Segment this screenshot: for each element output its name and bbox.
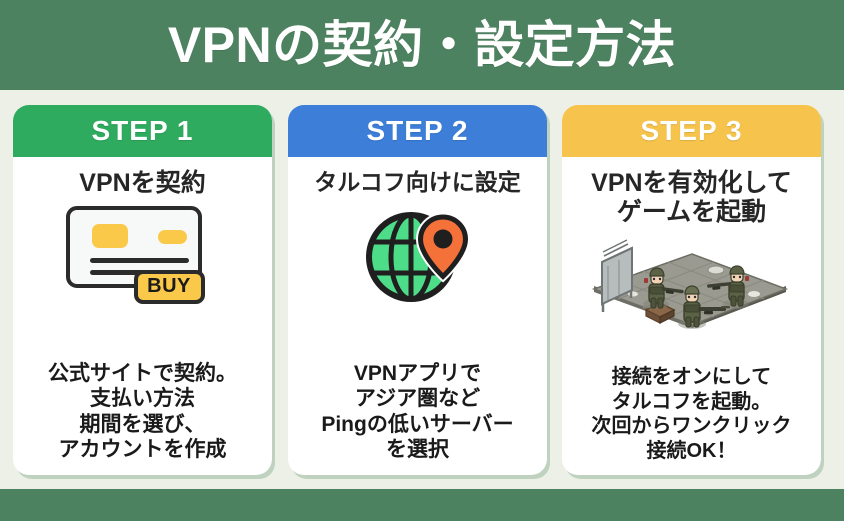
- step-1-title: VPNを契約: [79, 169, 205, 198]
- poster-title-bar: VPNの契約・設定方法: [0, 0, 844, 90]
- credit-card-buy-icon: BUY: [58, 204, 228, 312]
- step-1-description: 公式サイトで契約。 支払い方法 期間を選び、 アカウントを作成: [48, 361, 237, 463]
- step-2-label: STEP 2: [367, 115, 469, 147]
- step-2-description: VPNアプリで アジア圏など Pingの低いサーバー を選択: [321, 361, 513, 463]
- poster-title: VPNの契約・設定方法: [168, 20, 676, 70]
- step-1-label: STEP 1: [92, 115, 194, 147]
- step-3-header: STEP 3: [562, 105, 821, 157]
- step-3-body: VPNを有効化して ゲームを起動: [562, 157, 821, 475]
- credit-card-stripe: [158, 230, 187, 244]
- step-card-2: STEP 2 タルコフ向けに設定: [288, 105, 547, 475]
- step-3-description: 接続をオンにして タルコフを起動。 次回からワンクリック 接続OK！: [592, 365, 792, 463]
- buy-badge: BUY: [134, 270, 205, 304]
- step-card-1: STEP 1 VPNを契約 BUY 公式サイトで契約。 支払: [13, 105, 272, 475]
- infographic-poster: VPNの契約・設定方法 STEP 1 VPNを契約: [0, 0, 844, 521]
- step-1-header: STEP 1: [13, 105, 272, 157]
- step-3-illustration: [588, 232, 796, 344]
- globe-location-pin-icon: [359, 201, 477, 305]
- credit-card-line-1: [90, 258, 189, 263]
- step-2-title: タルコフ向けに設定: [314, 169, 521, 195]
- step-2-body: タルコフ向けに設定: [288, 157, 547, 475]
- step-2-header: STEP 2: [288, 105, 547, 157]
- poster-bottom-bar: [0, 489, 844, 521]
- step-3-label: STEP 3: [641, 115, 743, 147]
- step-2-illustration: [359, 201, 477, 305]
- credit-card-chip: [92, 224, 128, 248]
- isometric-soldiers-scene-icon: [588, 232, 796, 344]
- step-3-title: VPNを有効化して ゲームを起動: [591, 169, 792, 226]
- step-1-body: VPNを契約 BUY 公式サイトで契約。 支払い方法 期間を選び、 アカウントを…: [13, 157, 272, 475]
- step-1-illustration: BUY: [58, 204, 228, 312]
- steps-row: STEP 1 VPNを契約 BUY 公式サイトで契約。 支払: [0, 105, 844, 477]
- step-card-3: STEP 3 VPNを有効化して ゲームを起動: [562, 105, 821, 475]
